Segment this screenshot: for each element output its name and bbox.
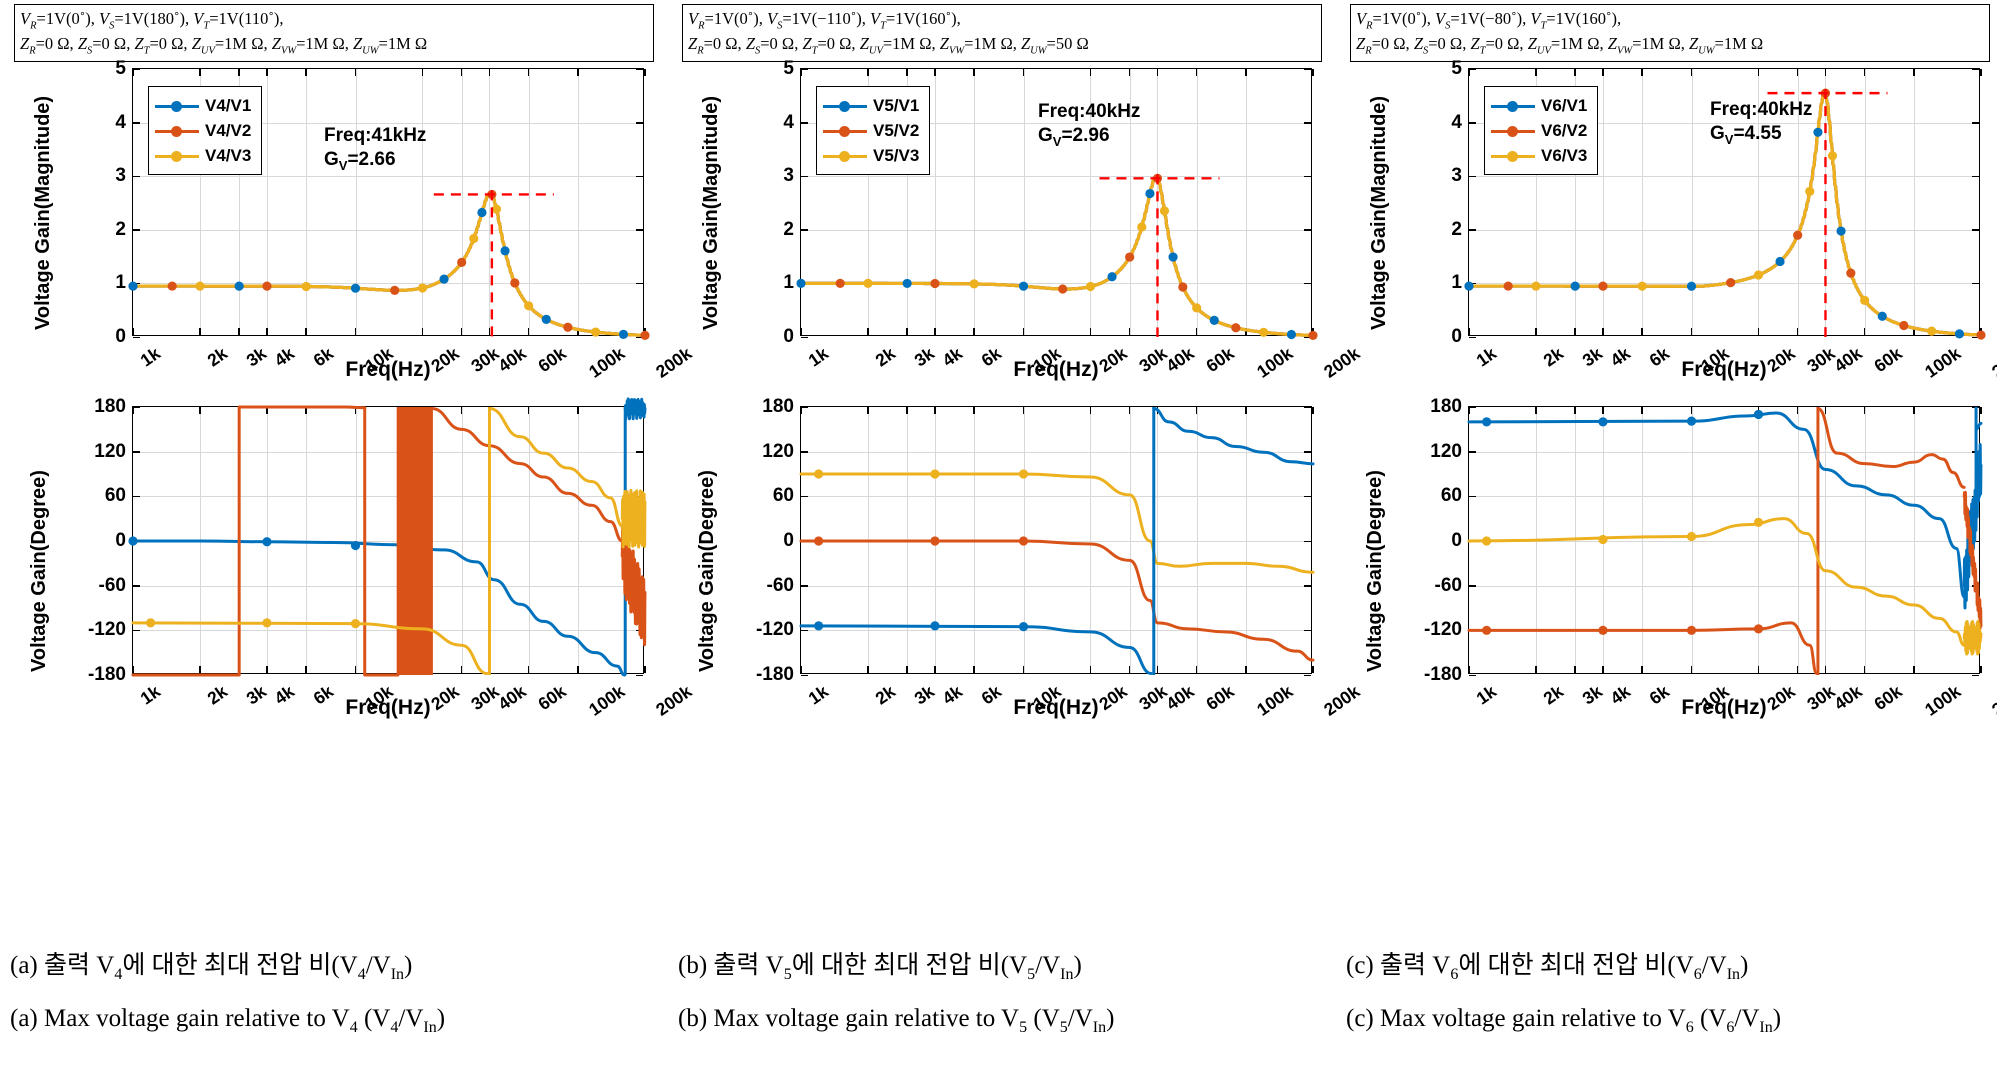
legend-item: V4/V1 xyxy=(155,93,251,118)
curve-phase-yellow-b xyxy=(489,408,622,526)
marker-series-0 xyxy=(1687,282,1696,291)
x-axis-title: Freq(Hz) xyxy=(800,696,1312,720)
marker-series-0 xyxy=(128,281,137,290)
legend-swatch xyxy=(1491,124,1535,138)
phase-plot-c: -180-120-600601201801k2k3k4k6k10k20k30k4… xyxy=(1350,400,1990,730)
y-axis-tick-label: 60 xyxy=(105,485,126,507)
plot-axes: -180-120-600601201801k2k3k4k6k10k20k30k4… xyxy=(1468,406,1980,674)
marker-series-0 xyxy=(796,279,805,288)
marker-phase-yellow xyxy=(814,469,823,478)
marker-series-2 xyxy=(970,279,979,288)
marker-series-0 xyxy=(500,246,509,255)
condition-box-c: VR=1V(0˚), VS=1V(−80˚), VT=1V(160˚),ZR=0… xyxy=(1350,4,1990,62)
marker-series-0 xyxy=(1019,282,1028,291)
plot-axes: -180-120-600601201801k2k3k4k6k10k20k30k4… xyxy=(132,406,644,674)
marker-series-1 xyxy=(640,331,649,340)
condition-term: VR=1V(0˚), xyxy=(688,9,767,28)
curve-layer xyxy=(133,407,645,675)
y-axis-tick-label: -60 xyxy=(767,575,794,597)
y-axis-tick-label: 1 xyxy=(115,272,126,294)
marker-series-2 xyxy=(1137,222,1146,231)
condition-term: VT=1V(160˚), xyxy=(870,9,961,28)
condition-term: ZR=0 Ω, xyxy=(20,34,78,53)
peak-freq-label: Freq:40kHz xyxy=(1038,100,1140,124)
legend-c: V6/V1V6/V2V6/V3 xyxy=(1484,86,1598,175)
marker-phase-blue xyxy=(930,621,939,630)
marker-series-0 xyxy=(1107,272,1116,281)
condition-term: ZR=0 Ω, xyxy=(688,34,746,53)
marker-phase-blue xyxy=(1754,410,1763,419)
y-axis-tick-label: 180 xyxy=(1430,396,1462,418)
marker-series-1 xyxy=(1726,278,1735,287)
curve-series-2 xyxy=(801,177,1313,335)
legend-label: V5/V1 xyxy=(873,97,919,114)
panel-b: VR=1V(0˚), VS=1V(−110˚), VT=1V(160˚),ZR=… xyxy=(672,0,1332,1084)
legend-item: V5/V1 xyxy=(823,93,919,118)
marker-series-0 xyxy=(1836,226,1845,235)
y-axis-title: Voltage Gain(Degree) xyxy=(696,470,719,672)
marker-series-0 xyxy=(619,330,628,339)
legend-label: V6/V1 xyxy=(1541,97,1587,114)
condition-term: ZUV=1M Ω, xyxy=(860,34,940,53)
y-axis-tick-label: -120 xyxy=(88,619,126,641)
condition-term: VS=1V(−110˚), xyxy=(767,9,870,28)
marker-series-2 xyxy=(1828,151,1837,160)
y-axis-tick-label: 60 xyxy=(773,485,794,507)
marker-series-1 xyxy=(930,279,939,288)
caption-korean-a: (a) 출력 V4에 대한 최대 전압 비(V4/VIn) xyxy=(10,945,666,984)
marker-series-2 xyxy=(1638,282,1647,291)
condition-term: VT=1V(110˚), xyxy=(193,9,283,28)
caption-korean-c: (c) 출력 V6에 대한 최대 전압 비(V6/VIn) xyxy=(1346,945,1997,984)
marker-phase-yellow xyxy=(1598,535,1607,544)
curve-phase-blue-a xyxy=(1469,413,1964,597)
condition-line: ZR=0 Ω, ZS=0 Ω, ZT=0 Ω, ZUV=1M Ω, ZVW=1M… xyxy=(20,33,649,58)
legend-swatch xyxy=(155,124,199,138)
marker-phase-blue xyxy=(1687,417,1696,426)
marker-series-0 xyxy=(542,315,551,324)
legend-swatch xyxy=(1491,99,1535,113)
magnitude-plot-a: 0123451k2k3k4k6k10k20k30k40k60k100k200kF… xyxy=(14,62,654,392)
y-axis-tick-label: 2 xyxy=(1451,219,1462,241)
legend-label: V5/V2 xyxy=(873,122,919,139)
marker-series-1 xyxy=(1058,284,1067,293)
condition-term: ZS=0 Ω, xyxy=(1414,34,1471,53)
legend-item: V4/V2 xyxy=(155,118,251,143)
legend-label: V5/V3 xyxy=(873,147,919,164)
peak-freq-label: Freq:40kHz xyxy=(1710,98,1812,122)
marker-phase-orange xyxy=(814,536,823,545)
peak-freq-label: Freq:41kHz xyxy=(324,124,426,148)
marker-series-2 xyxy=(302,282,311,291)
marker-phase-orange xyxy=(1598,626,1607,635)
marker-series-0 xyxy=(1955,329,1964,338)
peak-gain-label: GV=4.55 xyxy=(1710,122,1812,148)
condition-term: ZVW=1M Ω, xyxy=(940,34,1021,53)
marker-phase-blue xyxy=(128,536,137,545)
curve-phase-yellow-a xyxy=(1469,519,1964,646)
legend-item: V4/V3 xyxy=(155,143,251,168)
marker-series-0 xyxy=(477,208,486,217)
magnitude-plot-c: 0123451k2k3k4k6k10k20k30k40k60k100k200kF… xyxy=(1350,62,1990,392)
condition-box-b: VR=1V(0˚), VS=1V(−110˚), VT=1V(160˚),ZR=… xyxy=(682,4,1322,62)
peak-annotation: Freq:41kHzGV=2.66 xyxy=(324,124,426,174)
condition-term: ZS=0 Ω, xyxy=(78,34,135,53)
panel-c: VR=1V(0˚), VS=1V(−80˚), VT=1V(160˚),ZR=0… xyxy=(1340,0,1997,1084)
marker-series-2 xyxy=(1531,281,1540,290)
legend-item: V5/V3 xyxy=(823,143,919,168)
legend-item: V6/V1 xyxy=(1491,93,1587,118)
caption-english-b: (b) Max voltage gain relative to V5 (V5/… xyxy=(678,1005,1334,1037)
marker-series-2 xyxy=(1927,327,1936,336)
marker-phase-orange xyxy=(1754,624,1763,633)
curve-phase-orange xyxy=(801,541,1313,660)
condition-term: ZUW=1M Ω xyxy=(1689,34,1763,53)
marker-series-0 xyxy=(903,279,912,288)
plot-axes: -180-120-600601201801k2k3k4k6k10k20k30k4… xyxy=(800,406,1312,674)
marker-series-0 xyxy=(1813,128,1822,137)
marker-series-0 xyxy=(1145,189,1154,198)
marker-series-2 xyxy=(1805,187,1814,196)
y-axis-tick-label: 5 xyxy=(783,58,794,80)
legend-label: V6/V2 xyxy=(1541,122,1587,139)
y-axis-tick-label: 0 xyxy=(115,326,126,348)
y-axis-tick-label: 180 xyxy=(94,396,126,418)
y-axis-tick-label: 60 xyxy=(1441,485,1462,507)
legend-swatch xyxy=(155,99,199,113)
marker-series-0 xyxy=(1210,316,1219,325)
condition-term: VR=1V(0˚), xyxy=(1356,9,1435,28)
marker-series-1 xyxy=(390,286,399,295)
marker-series-2 xyxy=(1259,328,1268,337)
condition-line: VR=1V(0˚), VS=1V(−110˚), VT=1V(160˚), xyxy=(688,8,1317,33)
y-axis-tick-label: 3 xyxy=(783,165,794,187)
marker-series-2 xyxy=(1086,282,1095,291)
marker-series-0 xyxy=(439,275,448,284)
condition-term: ZS=0 Ω, xyxy=(746,34,803,53)
y-axis-tick-label: 120 xyxy=(762,441,794,463)
curve-phase-yellow-c xyxy=(622,490,645,547)
curve-phase-yellow-b xyxy=(1964,622,1981,655)
peak-gain-label: GV=2.96 xyxy=(1038,124,1140,150)
y-axis-tick-label: -120 xyxy=(756,619,794,641)
y-axis-tick-label: 2 xyxy=(115,219,126,241)
marker-phase-orange xyxy=(1687,626,1696,635)
condition-box-a: VR=1V(0˚), VS=1V(180˚), VT=1V(110˚),ZR=0… xyxy=(14,4,654,62)
legend-label: V4/V1 xyxy=(205,97,251,114)
y-axis-tick-label: 2 xyxy=(783,219,794,241)
condition-term: ZVW=1M Ω, xyxy=(1608,34,1689,53)
marker-phase-blue xyxy=(351,541,360,550)
legend-swatch xyxy=(823,149,867,163)
marker-series-0 xyxy=(1168,252,1177,261)
marker-series-1 xyxy=(563,323,572,332)
marker-phase-yellow xyxy=(1482,536,1491,545)
caption-english-c: (c) Max voltage gain relative to V6 (V6/… xyxy=(1346,1005,1997,1037)
y-axis-tick-label: 3 xyxy=(1451,165,1462,187)
phase-plot-b: -180-120-600601201801k2k3k4k6k10k20k30k4… xyxy=(682,400,1322,730)
condition-term: ZUW=1M Ω xyxy=(353,34,427,53)
marker-phase-yellow xyxy=(1019,469,1028,478)
curve-phase-orange-b xyxy=(239,407,365,408)
figure-page: VR=1V(0˚), VS=1V(180˚), VT=1V(110˚),ZR=0… xyxy=(0,0,1997,1084)
marker-phase-blue xyxy=(814,621,823,630)
legend-b: V5/V1V5/V2V5/V3 xyxy=(816,86,930,175)
condition-term: ZVW=1M Ω, xyxy=(272,34,353,53)
marker-phase-yellow xyxy=(930,469,939,478)
y-axis-title: Voltage Gain(Magnitude) xyxy=(700,96,723,330)
marker-phase-yellow xyxy=(351,619,360,628)
y-axis-tick-label: -120 xyxy=(1424,619,1462,641)
marker-phase-orange xyxy=(1019,536,1028,545)
condition-term: ZT=0 Ω, xyxy=(134,34,191,53)
marker-series-1 xyxy=(168,281,177,290)
legend-item: V6/V3 xyxy=(1491,143,1587,168)
x-axis-title: Freq(Hz) xyxy=(1468,696,1980,720)
x-axis-title: Freq(Hz) xyxy=(132,696,644,720)
marker-phase-blue xyxy=(1019,622,1028,631)
marker-phase-yellow xyxy=(1687,532,1696,541)
marker-series-2 xyxy=(492,205,501,214)
condition-term: ZT=0 Ω, xyxy=(1470,34,1527,53)
panel-a: VR=1V(0˚), VS=1V(180˚), VT=1V(110˚),ZR=0… xyxy=(4,0,664,1084)
condition-term: ZT=0 Ω, xyxy=(802,34,859,53)
marker-series-0 xyxy=(1878,312,1887,321)
marker-series-0 xyxy=(235,282,244,291)
marker-series-0 xyxy=(1464,281,1473,290)
marker-series-1 xyxy=(1308,331,1317,340)
marker-series-1 xyxy=(836,279,845,288)
curve-phase-orange-d xyxy=(432,408,623,541)
curve-phase-blue-noisy xyxy=(625,399,645,419)
y-axis-tick-label: 0 xyxy=(783,530,794,552)
condition-line: VR=1V(0˚), VS=1V(180˚), VT=1V(110˚), xyxy=(20,8,649,33)
marker-series-2 xyxy=(469,234,478,243)
condition-term: VR=1V(0˚), xyxy=(20,9,99,28)
curve-series-0 xyxy=(133,193,645,335)
caption-english-a: (a) Max voltage gain relative to V4 (V4/… xyxy=(10,1005,666,1037)
marker-series-2 xyxy=(1754,270,1763,279)
condition-term: VS=1V(−80˚), xyxy=(1435,9,1530,28)
legend-label: V6/V3 xyxy=(1541,147,1587,164)
marker-series-1 xyxy=(1178,282,1187,291)
curve-series-2 xyxy=(133,193,645,335)
peak-annotation: Freq:40kHzGV=4.55 xyxy=(1710,98,1812,148)
marker-series-1 xyxy=(1899,321,1908,330)
marker-series-2 xyxy=(1160,206,1169,215)
y-axis-tick-label: -60 xyxy=(99,575,126,597)
curve-phase-blue-b xyxy=(1154,408,1313,463)
marker-phase-blue xyxy=(1598,417,1607,426)
marker-series-1 xyxy=(1504,281,1513,290)
condition-term: ZR=0 Ω, xyxy=(1356,34,1414,53)
y-axis-tick-label: 4 xyxy=(115,112,126,134)
marker-series-0 xyxy=(1287,330,1296,339)
x-axis-title: Freq(Hz) xyxy=(800,358,1312,382)
marker-series-0 xyxy=(1571,281,1580,290)
y-axis-tick-label: 1 xyxy=(783,272,794,294)
curve-phase-blue xyxy=(133,541,625,675)
phase-plot-a: -180-120-600601201801k2k3k4k6k10k20k30k4… xyxy=(14,400,654,730)
y-axis-tick-label: 0 xyxy=(783,326,794,348)
marker-phase-orange xyxy=(1482,626,1491,635)
legend-item: V5/V2 xyxy=(823,118,919,143)
y-axis-tick-label: 180 xyxy=(762,396,794,418)
legend-swatch xyxy=(155,149,199,163)
condition-line: ZR=0 Ω, ZS=0 Ω, ZT=0 Ω, ZUV=1M Ω, ZVW=1M… xyxy=(688,33,1317,58)
y-axis-tick-label: 1 xyxy=(1451,272,1462,294)
peak-gain-label: GV=2.66 xyxy=(324,148,426,174)
marker-series-1 xyxy=(1598,282,1607,291)
y-axis-tick-label: 5 xyxy=(115,58,126,80)
legend-label: V4/V2 xyxy=(205,122,251,139)
marker-series-1 xyxy=(510,278,519,287)
y-axis-tick-label: 4 xyxy=(1451,112,1462,134)
condition-term: ZUW=50 Ω xyxy=(1021,34,1089,53)
condition-term: ZUV=1M Ω, xyxy=(1528,34,1608,53)
curve-series-1 xyxy=(801,177,1313,335)
marker-phase-yellow xyxy=(146,618,155,627)
marker-series-1 xyxy=(1976,330,1985,339)
magnitude-plot-b: 0123451k2k3k4k6k10k20k30k40k60k100k200kF… xyxy=(682,62,1322,392)
y-axis-tick-label: 120 xyxy=(94,441,126,463)
condition-line: VR=1V(0˚), VS=1V(−80˚), VT=1V(160˚), xyxy=(1356,8,1985,33)
y-axis-tick-label: -180 xyxy=(88,664,126,686)
marker-series-1 xyxy=(1125,252,1134,261)
y-axis-tick-label: 4 xyxy=(783,112,794,134)
marker-series-1 xyxy=(457,258,466,267)
curve-series-1 xyxy=(133,193,645,335)
y-axis-tick-label: 0 xyxy=(1451,326,1462,348)
curve-series-0 xyxy=(801,177,1313,335)
marker-series-1 xyxy=(1793,231,1802,240)
marker-series-0 xyxy=(351,284,360,293)
y-axis-tick-label: 5 xyxy=(1451,58,1462,80)
curve-layer xyxy=(1469,407,1981,675)
marker-series-2 xyxy=(863,279,872,288)
condition-term: VS=1V(180˚), xyxy=(99,9,193,28)
x-axis-title: Freq(Hz) xyxy=(132,358,644,382)
y-axis-tick-label: 0 xyxy=(1451,530,1462,552)
legend-swatch xyxy=(1491,149,1535,163)
y-axis-tick-label: -60 xyxy=(1435,575,1462,597)
y-axis-tick-label: -180 xyxy=(1424,664,1462,686)
curve-layer xyxy=(801,407,1313,675)
y-axis-tick-label: -180 xyxy=(756,664,794,686)
legend-a: V4/V1V4/V2V4/V3 xyxy=(148,86,262,175)
curve-phase-blue-a xyxy=(801,626,1151,674)
marker-phase-orange xyxy=(930,536,939,545)
marker-series-2 xyxy=(1860,296,1869,305)
x-axis-title: Freq(Hz) xyxy=(1468,358,1980,382)
y-axis-tick-label: 120 xyxy=(1430,441,1462,463)
marker-series-0 xyxy=(1775,257,1784,266)
peak-annotation: Freq:40kHzGV=2.96 xyxy=(1038,100,1140,150)
legend-label: V4/V3 xyxy=(205,147,251,164)
y-axis-title: Voltage Gain(Magnitude) xyxy=(32,96,55,330)
legend-swatch xyxy=(823,99,867,113)
condition-term: VT=1V(160˚), xyxy=(1530,9,1621,28)
marker-phase-yellow xyxy=(262,618,271,627)
legend-swatch xyxy=(823,124,867,138)
marker-series-2 xyxy=(591,327,600,336)
y-axis-tick-label: 0 xyxy=(115,530,126,552)
y-axis-title: Voltage Gain(Degree) xyxy=(28,470,51,672)
marker-series-1 xyxy=(1846,268,1855,277)
marker-phase-blue xyxy=(262,537,271,546)
caption-korean-b: (b) 출력 V5에 대한 최대 전압 비(V5/VIn) xyxy=(678,945,1334,984)
marker-phase-yellow xyxy=(1754,518,1763,527)
y-axis-title: Voltage Gain(Magnitude) xyxy=(1368,96,1391,330)
marker-series-2 xyxy=(418,283,427,292)
y-axis-title: Voltage Gain(Degree) xyxy=(1364,470,1387,672)
marker-series-1 xyxy=(1231,323,1240,332)
marker-phase-blue xyxy=(1482,417,1491,426)
marker-series-2 xyxy=(1192,303,1201,312)
y-axis-tick-label: 3 xyxy=(115,165,126,187)
condition-term: ZUV=1M Ω, xyxy=(192,34,272,53)
curve-phase-yellow-a xyxy=(133,623,487,674)
curve-phase-orange-a xyxy=(1469,623,1817,674)
curve-phase-yellow xyxy=(801,474,1313,572)
marker-series-2 xyxy=(524,301,533,310)
legend-item: V6/V2 xyxy=(1491,118,1587,143)
condition-line: ZR=0 Ω, ZS=0 Ω, ZT=0 Ω, ZUV=1M Ω, ZVW=1M… xyxy=(1356,33,1985,58)
marker-series-2 xyxy=(195,281,204,290)
marker-series-1 xyxy=(262,282,271,291)
